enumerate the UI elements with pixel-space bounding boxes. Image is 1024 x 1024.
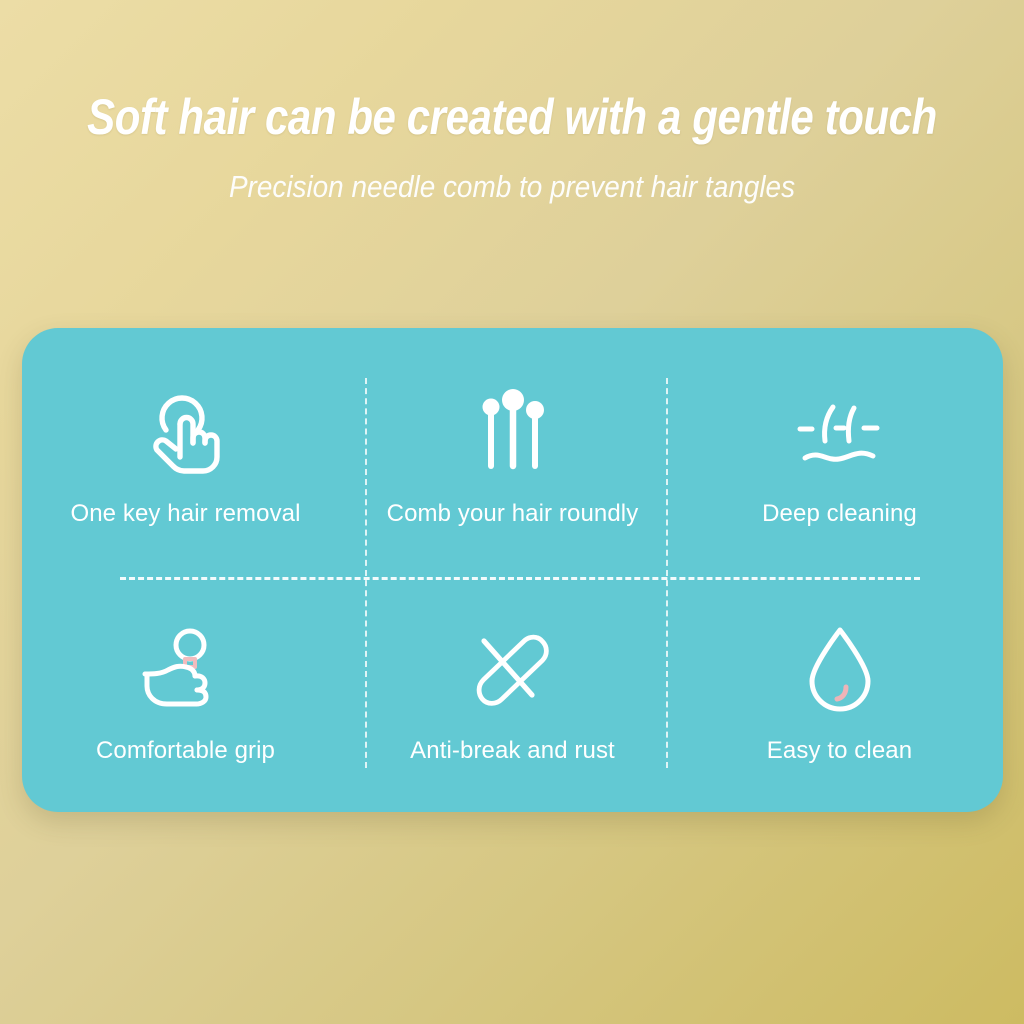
- feature-label: Easy to clean: [767, 736, 912, 766]
- hair-wave-icon: [785, 385, 895, 481]
- page-title: Soft hair can be created with a gentle t…: [82, 88, 942, 146]
- feature-label: One key hair removal: [70, 499, 300, 529]
- vertical-divider-2: [666, 378, 668, 768]
- infographic-page: Soft hair can be created with a gentle t…: [0, 0, 1024, 1024]
- header: Soft hair can be created with a gentle t…: [0, 88, 1024, 206]
- crossed-pins-icon: [458, 622, 568, 718]
- horizontal-divider: [120, 577, 920, 580]
- vertical-divider-1: [365, 378, 367, 768]
- hand-grip-icon: [131, 622, 241, 718]
- water-droplet-icon: [785, 622, 895, 718]
- feature-item-deep-cleaning[interactable]: Deep cleaning: [676, 328, 1003, 570]
- feature-item-one-key-hair-removal[interactable]: One key hair removal: [22, 328, 349, 570]
- page-subtitle: Precision needle comb to prevent hair ta…: [51, 146, 973, 206]
- feature-item-comb-your-hair-roundly[interactable]: Comb your hair roundly: [349, 328, 676, 570]
- feature-label: Comfortable grip: [96, 736, 275, 766]
- feature-grid: One key hair removal: [22, 328, 1003, 812]
- feature-label: Deep cleaning: [762, 499, 917, 529]
- feature-item-anti-break-and-rust[interactable]: Anti-break and rust: [349, 570, 676, 812]
- hand-tap-icon: [131, 385, 241, 481]
- feature-card: One key hair removal: [22, 328, 1003, 812]
- feature-label: Anti-break and rust: [410, 736, 615, 766]
- feature-item-easy-to-clean[interactable]: Easy to clean: [676, 570, 1003, 812]
- feature-item-comfortable-grip[interactable]: Comfortable grip: [22, 570, 349, 812]
- feature-label: Comb your hair roundly: [387, 499, 639, 529]
- comb-needles-icon: [458, 385, 568, 481]
